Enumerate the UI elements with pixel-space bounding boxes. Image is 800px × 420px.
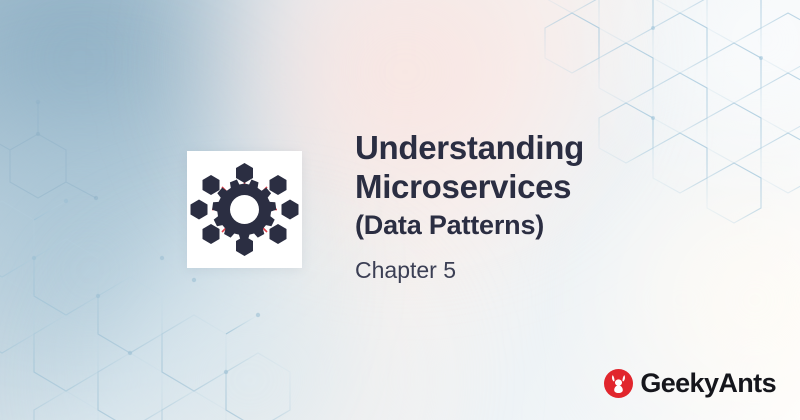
page-subtitle: (Data Patterns) [355,208,755,242]
brand-lockup: GeekyAnts [604,369,776,398]
chapter-label: Chapter 5 [355,256,755,284]
microservices-icon-tile [187,151,302,268]
presentation-banner: Understanding Microservices (Data Patter… [0,0,800,420]
headline-block: Understanding Microservices (Data Patter… [355,128,755,284]
page-title-line-2: Microservices [355,167,755,206]
brand-name: GeekyAnts [640,370,776,397]
microservices-gear-network-icon [187,151,302,268]
gear-center-hole [230,195,259,224]
page-title-line-1: Understanding [355,128,755,167]
geekyants-ant-logo-icon [604,369,633,398]
